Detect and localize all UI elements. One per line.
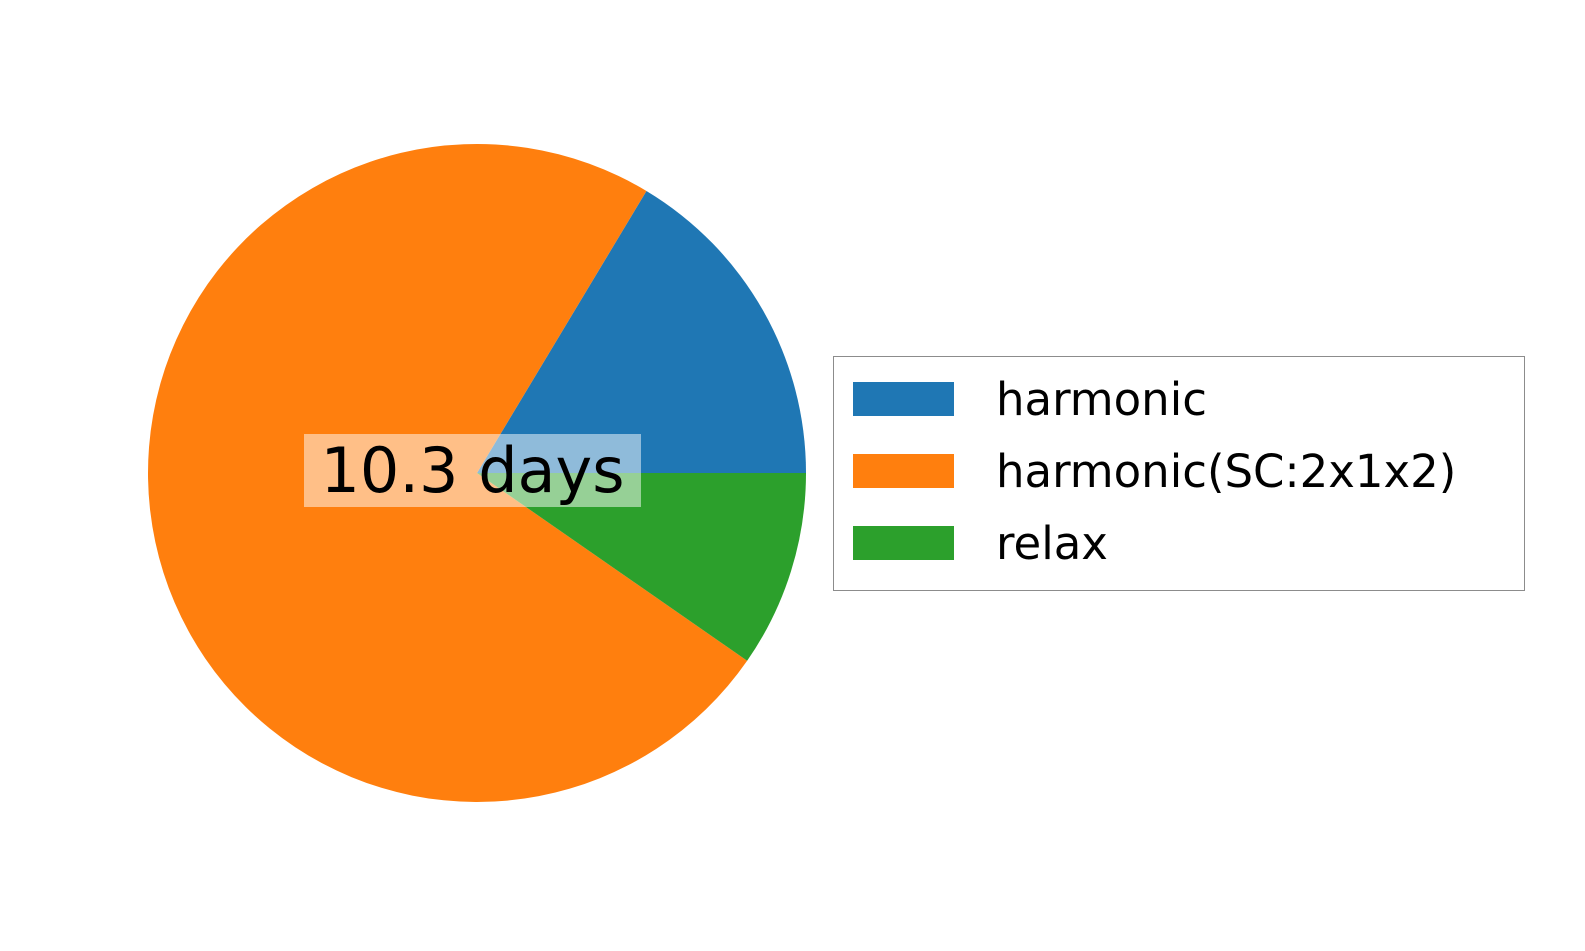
legend-box: harmonicharmonic(SC:2x1x2)relax: [833, 356, 1525, 591]
legend-item[interactable]: harmonic: [853, 382, 1207, 416]
center-annotation: 10.3 days: [304, 434, 641, 507]
legend-item[interactable]: harmonic(SC:2x1x2): [853, 454, 1456, 488]
legend-label: harmonic: [996, 377, 1207, 422]
legend-swatch-icon: [853, 382, 954, 416]
legend-item[interactable]: relax: [853, 526, 1108, 560]
legend-swatch-icon: [853, 526, 954, 560]
center-annotation-label: 10.3 days: [304, 434, 641, 507]
legend-swatch-icon: [853, 454, 954, 488]
legend-label: relax: [996, 521, 1108, 566]
legend-label: harmonic(SC:2x1x2): [996, 449, 1456, 494]
pie-chart-figure: 10.3 days harmonicharmonic(SC:2x1x2)rela…: [0, 0, 1585, 951]
